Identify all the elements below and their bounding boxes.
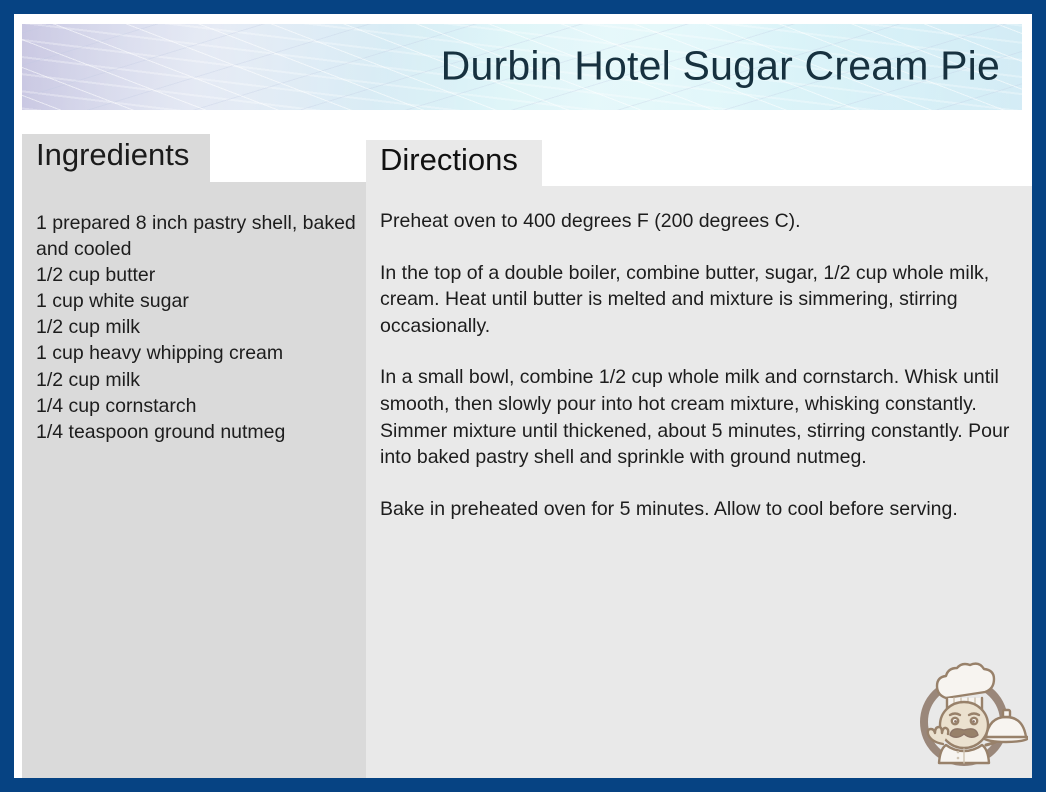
directions-panel: Preheat oven to 400 degrees F (200 degre… (366, 186, 1038, 782)
list-item: 1/4 cup cornstarch (36, 393, 356, 419)
directions-heading: Directions (380, 142, 518, 178)
directions-tab: Directions (366, 140, 542, 186)
list-item: 1/2 cup milk (36, 367, 356, 393)
ingredients-heading: Ingredients (36, 137, 189, 173)
direction-step: In a small bowl, combine 1/2 cup whole m… (380, 364, 1030, 470)
list-item: 1/2 cup milk (36, 314, 356, 340)
ingredients-tab: Ingredients (22, 134, 210, 182)
ingredients-list: 1 prepared 8 inch pastry shell, baked an… (36, 210, 356, 445)
header-banner: Durbin Hotel Sugar Cream Pie (22, 24, 1022, 110)
list-item: 1 cup heavy whipping cream (36, 340, 356, 366)
direction-step: In the top of a double boiler, combine b… (380, 260, 1030, 340)
list-item: 1/4 teaspoon ground nutmeg (36, 419, 356, 445)
direction-step: Preheat oven to 400 degrees F (200 degre… (380, 208, 1030, 235)
list-item: 1 prepared 8 inch pastry shell, baked an… (36, 210, 356, 262)
recipe-card: Durbin Hotel Sugar Cream Pie (0, 0, 1046, 792)
direction-step: Bake in preheated oven for 5 minutes. Al… (380, 496, 1030, 523)
list-item: 1/2 cup butter (36, 262, 356, 288)
directions-list: Preheat oven to 400 degrees F (200 degre… (380, 208, 1030, 522)
list-item: 1 cup white sugar (36, 288, 356, 314)
page-title: Durbin Hotel Sugar Cream Pie (441, 46, 1000, 87)
recipe-card-inner: Durbin Hotel Sugar Cream Pie (14, 14, 1032, 778)
ingredients-panel: 1 prepared 8 inch pastry shell, baked an… (22, 182, 366, 782)
